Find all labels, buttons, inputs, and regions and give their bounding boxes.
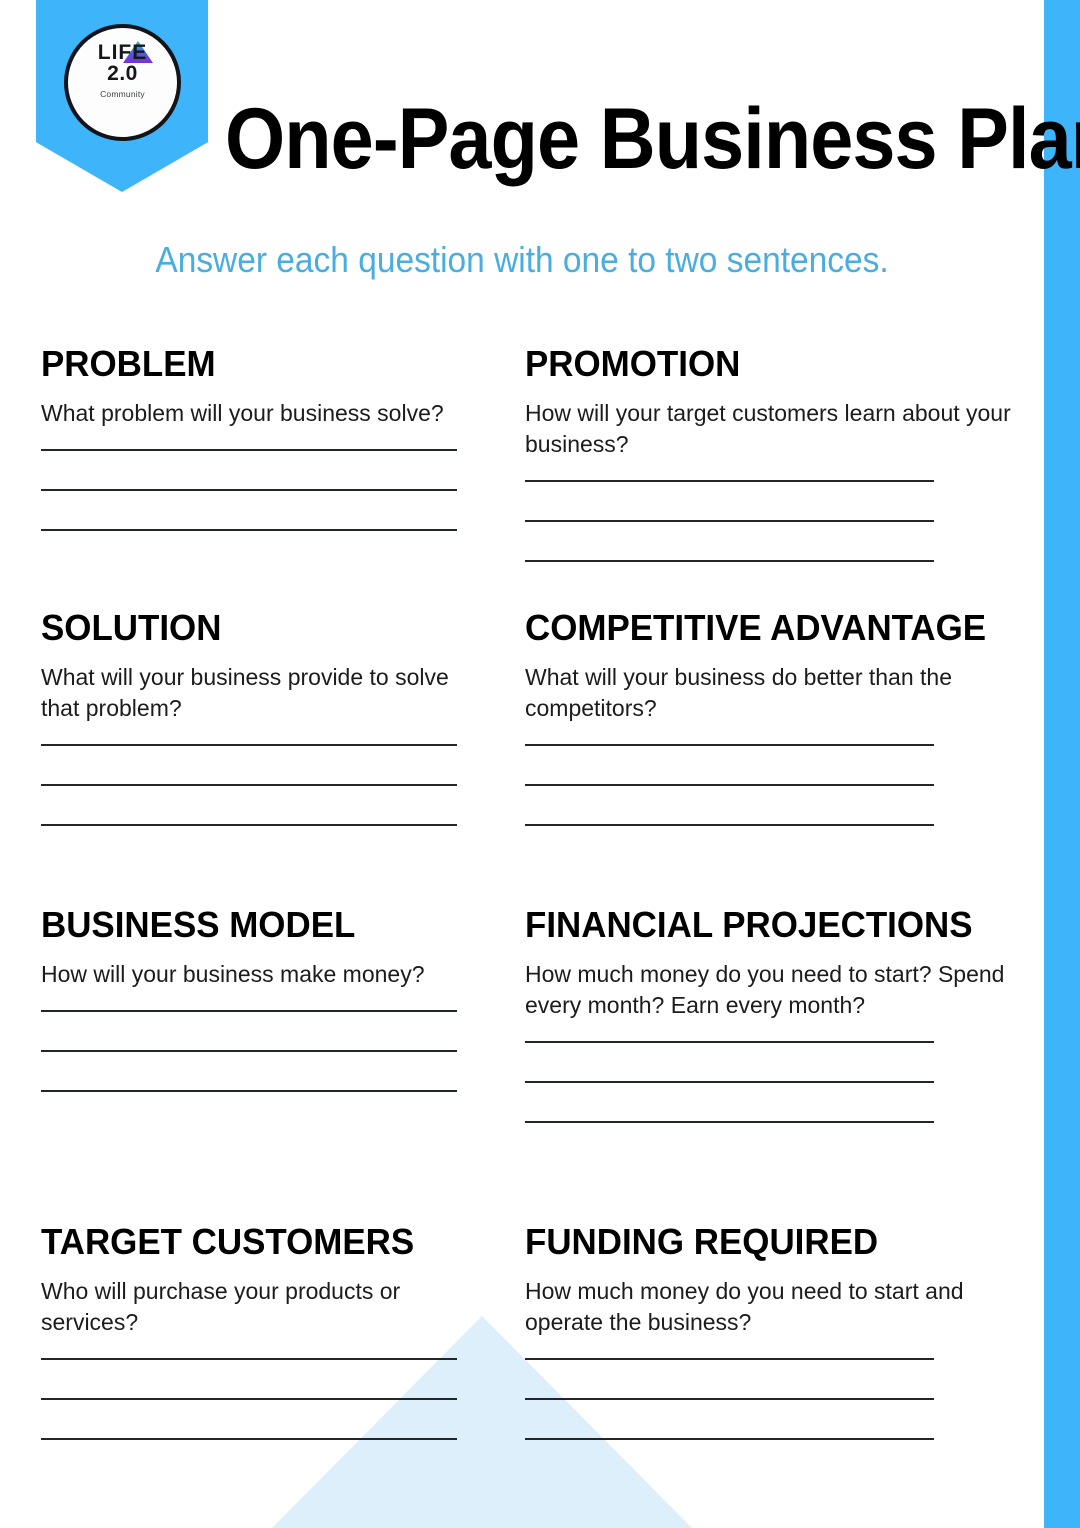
answer-lines-promotion[interactable] [525,480,1037,562]
answer-lines-financial-projections[interactable] [525,1041,1037,1123]
section-promotion: PROMOTIONHow will your target customers … [525,344,1037,600]
answer-line[interactable] [525,480,934,482]
section-question-competitive-advantage: What will your business do better than t… [525,662,1037,724]
answer-line[interactable] [41,1438,457,1440]
section-title-financial-projections: FINANCIAL PROJECTIONS [525,905,1022,945]
section-title-promotion: PROMOTION [525,344,1022,384]
section-business-model: BUSINESS MODELHow will your business mak… [41,905,461,1130]
answer-lines-target-customers[interactable] [41,1358,461,1440]
section-question-financial-projections: How much money do you need to start? Spe… [525,959,1037,1021]
answer-lines-business-model[interactable] [41,1010,461,1092]
section-title-problem: PROBLEM [41,344,448,384]
answer-lines-competitive-advantage[interactable] [525,744,1037,826]
answer-line[interactable] [525,1358,934,1360]
section-row: BUSINESS MODELHow will your business mak… [0,905,1044,1222]
answer-line[interactable] [41,744,457,746]
section-question-solution: What will your business provide to solve… [41,662,461,724]
answer-line[interactable] [41,824,457,826]
answer-lines-problem[interactable] [41,449,461,531]
answer-lines-solution[interactable] [41,744,461,826]
section-financial-projections: FINANCIAL PROJECTIONSHow much money do y… [525,905,1037,1161]
answer-line[interactable] [41,489,457,491]
section-question-funding-required: How much money do you need to start and … [525,1276,1037,1338]
section-row: PROBLEMWhat problem will your business s… [0,344,1044,608]
answer-line[interactable] [525,1121,934,1123]
right-accent-bar [1044,0,1080,1528]
logo-text-version: 2.0 [107,63,138,85]
answer-line[interactable] [525,1081,934,1083]
answer-line[interactable] [525,824,934,826]
section-funding-required: FUNDING REQUIREDHow much money do you ne… [525,1222,1037,1478]
answer-line[interactable] [525,1398,934,1400]
section-title-target-customers: TARGET CUSTOMERS [41,1222,448,1262]
section-row: SOLUTIONWhat will your business provide … [0,608,1044,905]
answer-lines-funding-required[interactable] [525,1358,1037,1440]
section-competitive-advantage: COMPETITIVE ADVANTAGEWhat will your busi… [525,608,1037,864]
answer-line[interactable] [525,1041,934,1043]
answer-line[interactable] [525,784,934,786]
answer-line[interactable] [41,1050,457,1052]
section-title-competitive-advantage: COMPETITIVE ADVANTAGE [525,608,1022,648]
logo-text-community: Community [100,88,145,100]
section-row: TARGET CUSTOMERSWho will purchase your p… [0,1222,1044,1522]
section-problem: PROBLEMWhat problem will your business s… [41,344,461,569]
answer-line[interactable] [41,1358,457,1360]
answer-line[interactable] [41,529,457,531]
answer-line[interactable] [525,1438,934,1440]
answer-line[interactable] [41,449,457,451]
page-subtitle: Answer each question with one to two sen… [37,238,1008,282]
answer-line[interactable] [41,784,457,786]
logo-badge: LIFE 2.0 Community [64,24,181,141]
answer-line[interactable] [525,560,934,562]
section-question-target-customers: Who will purchase your products or servi… [41,1276,461,1338]
answer-line[interactable] [41,1010,457,1012]
section-question-business-model: How will your business make money? [41,959,461,990]
section-question-promotion: How will your target customers learn abo… [525,398,1037,460]
logo-text-life: LIFE [98,42,148,63]
answer-line[interactable] [41,1398,457,1400]
section-target-customers: TARGET CUSTOMERSWho will purchase your p… [41,1222,461,1478]
section-question-problem: What problem will your business solve? [41,398,461,429]
business-plan-worksheet: LIFE 2.0 Community One-Page Business Pla… [0,0,1080,1528]
answer-line[interactable] [525,520,934,522]
section-title-solution: SOLUTION [41,608,448,648]
answer-line[interactable] [525,744,934,746]
section-title-funding-required: FUNDING REQUIRED [525,1222,1022,1262]
page-title: One-Page Business Plan [225,92,945,186]
section-solution: SOLUTIONWhat will your business provide … [41,608,461,864]
answer-line[interactable] [41,1090,457,1092]
section-title-business-model: BUSINESS MODEL [41,905,448,945]
